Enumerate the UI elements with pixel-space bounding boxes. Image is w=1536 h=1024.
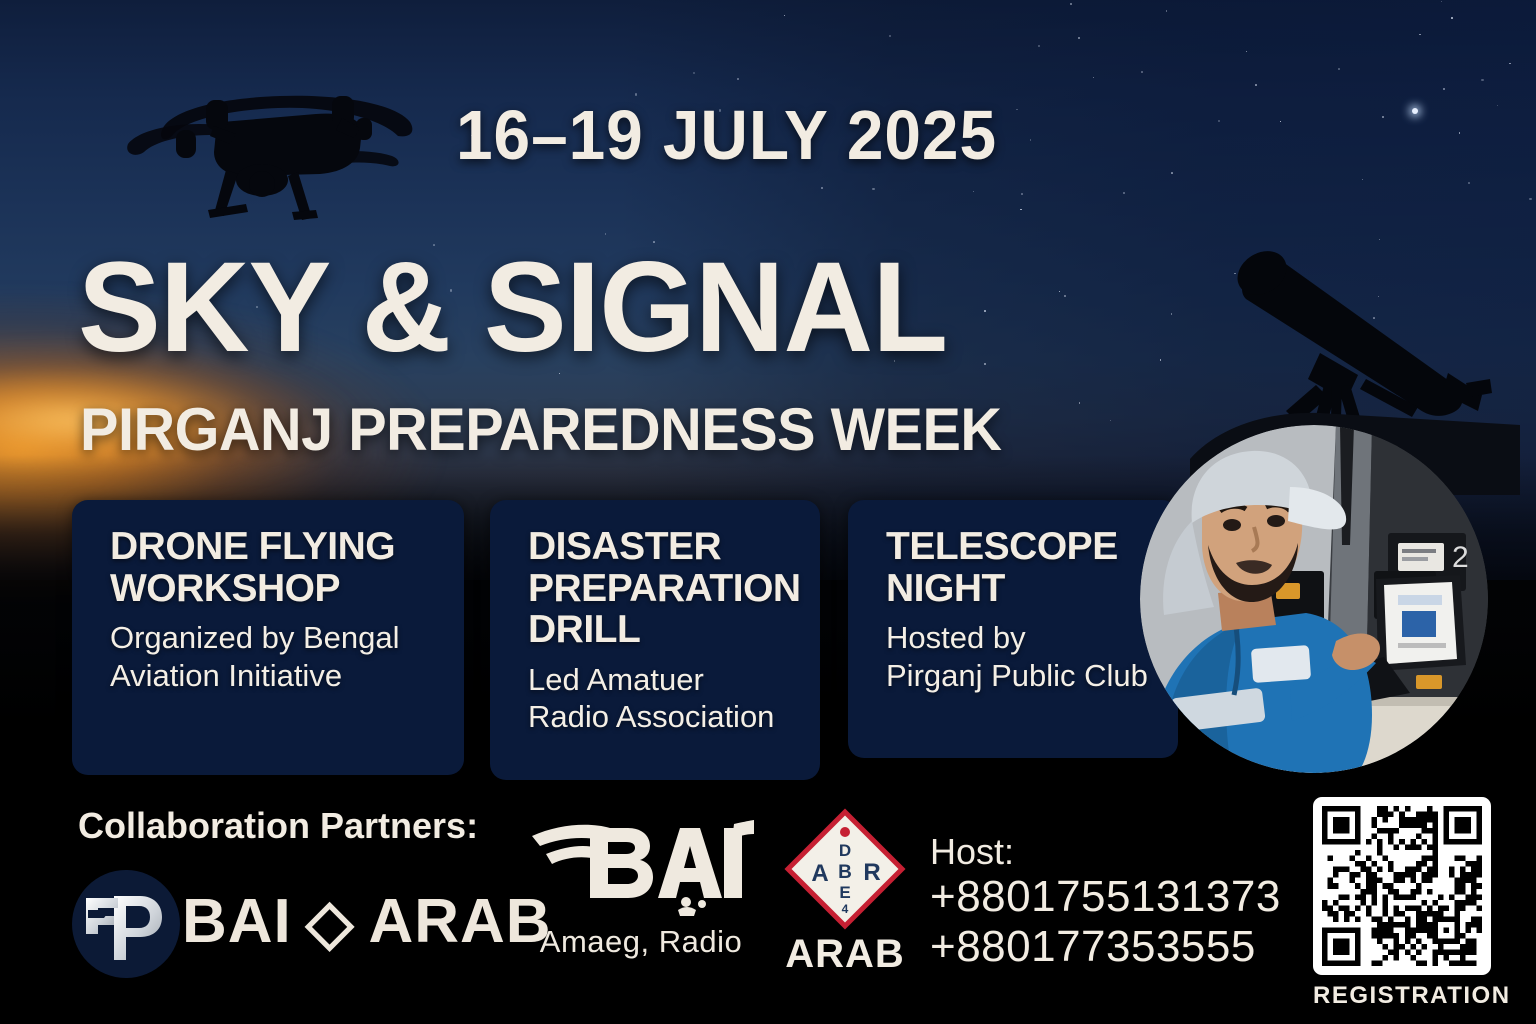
partner-name-arab: ARAB	[368, 886, 551, 957]
registration-label: REGISTRATION	[1313, 982, 1499, 1010]
svg-text:E: E	[839, 883, 850, 902]
collaboration-partners-label: Collaboration Partners:	[78, 805, 478, 847]
event-card-organizer: Led Amatuer Radio Association	[528, 661, 796, 735]
fp-partner-logo-icon	[70, 868, 182, 980]
event-card-organizer: Organized by Bengal Aviation Initiative	[110, 619, 440, 693]
host-phone-primary[interactable]: +8801755131373	[930, 872, 1281, 922]
svg-text:2: 2	[1452, 541, 1469, 574]
event-card-title: DRONE FLYING WORKSHOP	[110, 526, 440, 609]
host-phone-secondary[interactable]: +880177353555	[930, 922, 1281, 972]
host-operator-photo: 2	[1140, 425, 1488, 773]
svg-text:A: A	[811, 860, 828, 887]
event-card-drone-flying-workshop[interactable]: DRONE FLYING WORKSHOP Organized by Benga…	[72, 500, 464, 775]
svg-text:D: D	[839, 841, 851, 860]
event-card-title: DISASTER PREPARATION DRILL	[528, 526, 796, 651]
event-card-organizer: Hosted by Pirganj Public Club	[886, 619, 1154, 693]
event-poster: 16–19 JULY 2025 SKY & SIGNAL PIRGANJ PRE…	[0, 0, 1536, 1024]
host-contact-block: Host: +8801755131373 +880177353555	[930, 832, 1281, 972]
registration-qr-block[interactable]: REGISTRATION	[1313, 797, 1499, 1017]
bai-logo-caption: Amaeg, Radio	[528, 924, 754, 960]
arab-logo-block: D B E A R 4 ARAB	[780, 808, 910, 988]
event-card-title: TELESCOPE NIGHT	[886, 526, 1154, 609]
bai-logo-block: Amaeg, Radio	[528, 810, 754, 980]
bai-winged-logo-icon	[528, 810, 754, 918]
arab-logo-caption: ARAB	[780, 932, 910, 977]
qr-code-image[interactable]	[1313, 797, 1491, 975]
svg-text:4: 4	[842, 902, 849, 916]
partner-wordmarks: BAI ◇ ARAB	[182, 885, 552, 958]
partner-name-bai: BAI	[182, 886, 292, 957]
svg-text:R: R	[863, 859, 880, 886]
svg-text:B: B	[838, 862, 852, 883]
event-card-disaster-preparation-drill[interactable]: DISASTER PREPARATION DRILL Led Amatuer R…	[490, 500, 820, 780]
diamond-separator-icon: ◇	[306, 885, 355, 958]
arab-diamond-badge-icon: D B E A R 4	[780, 808, 910, 930]
event-card-telescope-night[interactable]: TELESCOPE NIGHT Hosted by Pirganj Public…	[848, 500, 1178, 758]
host-label: Host:	[930, 832, 1281, 872]
